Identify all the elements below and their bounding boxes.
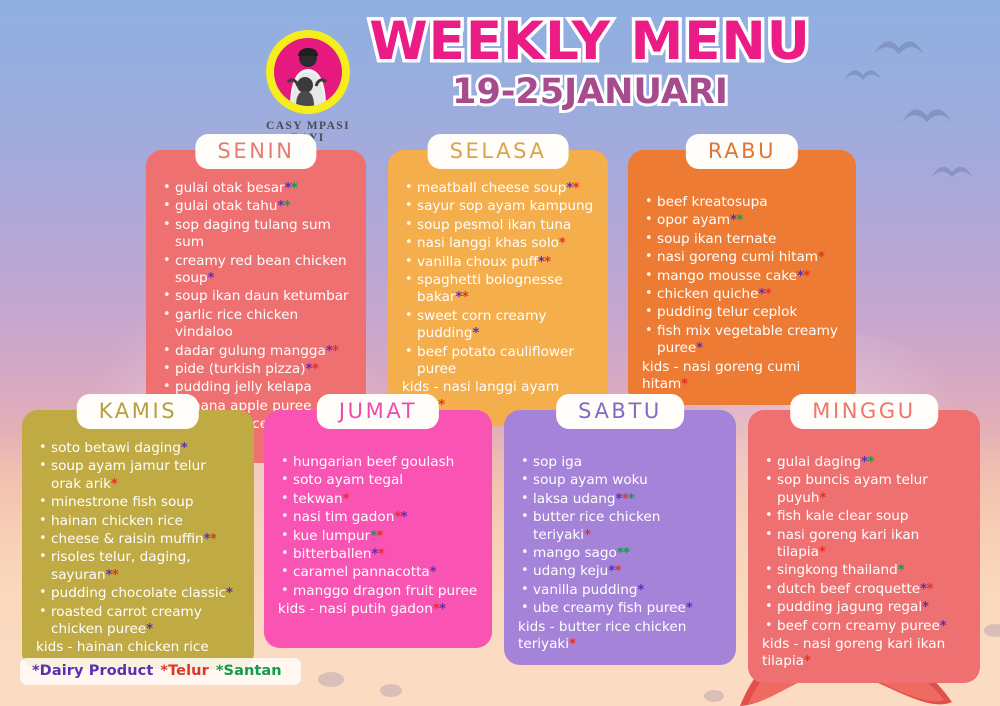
menu-item: minestrone fish soup (36, 494, 240, 511)
menu-item-label: fish kale clear soup (777, 508, 909, 524)
allergen-mark-dairy: * (473, 326, 479, 341)
allergen-mark-dairy: * (430, 565, 436, 580)
menu-item-label: nasi tim gadon (293, 509, 394, 525)
allergen-mark-telur: * (559, 236, 565, 251)
date-range: 19-25JANUARI (360, 72, 820, 112)
menu-item-label: gulai daging (777, 454, 861, 470)
menu-item: bitterballen** (278, 546, 478, 563)
allergen-mark-telur: * (377, 529, 383, 544)
day-label-jumat: JUMAT (317, 394, 439, 429)
day-card-selasa: SELASA meatball cheese soup**sayur sop a… (388, 150, 608, 426)
menu-item-label: singkong thailand (777, 562, 898, 578)
menu-item: laksa udang*** (518, 491, 722, 508)
allergen-mark-telur: * (332, 344, 338, 359)
legend-item-telur: *Telur (160, 663, 208, 679)
menu-item-label: hainan chicken rice (51, 513, 183, 529)
menu-item: vanilla pudding* (518, 582, 722, 599)
menu-item: ube creamy fish puree* (518, 600, 722, 617)
title-block: WEEKLY MENU 19-25JANUARI (360, 14, 820, 112)
menu-item-label: mango mousse cake (657, 268, 797, 284)
menu-item: kue lumpur** (278, 528, 478, 545)
menu-item-label: opor ayam (657, 212, 730, 228)
menu-item: singkong thailand* (762, 562, 966, 579)
menu-item-label: risoles telur, daging, sayuran (51, 549, 191, 582)
pebble-shape (984, 624, 1000, 637)
allergen-mark-telur: * (210, 532, 216, 547)
menu-item-label: ube creamy fish puree (533, 600, 686, 616)
menu-list: soto betawi daging*soup ayam jamur telur… (36, 440, 240, 638)
menu-list: sop igasoup ayam wokulaksa udang***butte… (518, 440, 722, 618)
allergen-mark-dairy: * (226, 586, 232, 601)
kids-menu: kids - nasi goreng kari ikan tilapia* (762, 636, 966, 671)
menu-item: creamy red bean chicken soup* (160, 253, 352, 288)
day-card-rabu: RABU beef kreatosupaopor ayam**soup ikan… (628, 150, 856, 405)
menu-item: sop daging tulang sum sum (160, 217, 352, 252)
menu-item-label: beef kreatosupa (657, 194, 768, 210)
menu-item: risoles telur, daging, sayuran** (36, 549, 240, 584)
allergen-mark-santan: * (623, 546, 629, 561)
menu-item-label: sweet corn creamy pudding (417, 308, 546, 341)
menu-item: fish kale clear soup (762, 508, 966, 525)
allergen-mark-santan: * (628, 492, 634, 507)
menu-item: beef kreatosupa (642, 194, 842, 211)
menu-item-label: tekwan (293, 491, 343, 507)
day-label-senin: SENIN (195, 134, 316, 169)
menu-item-label: cheese & raisin muffin (51, 531, 204, 547)
menu-item: cheese & raisin muffin** (36, 531, 240, 548)
allergen-mark-telur: * (818, 250, 824, 265)
kids-menu-label: kids - nasi goreng cumi hitam (642, 359, 800, 392)
menu-item-label: hungarian beef goulash (293, 454, 454, 470)
menu-item: soup ikan ternate (642, 231, 842, 248)
allergen-mark-dairy: * (638, 583, 644, 598)
allergen-mark-telur: * (804, 654, 810, 669)
menu-item: chicken quiche** (642, 286, 842, 303)
menu-item: butter rice chicken teriyaki* (518, 509, 722, 544)
menu-list: beef kreatosupaopor ayam**soup ikan tern… (642, 180, 842, 358)
logo-ring (266, 30, 350, 114)
allergen-mark-telur: * (544, 255, 550, 270)
menu-item: pudding jagung regal* (762, 599, 966, 616)
allergen-mark-dairy: * (401, 510, 407, 525)
allergen-mark-dairy: * (922, 600, 928, 615)
day-card-jumat: JUMAT hungarian beef goulashsoto ayam te… (264, 410, 492, 648)
day-label-sabtu: SABTU (556, 394, 684, 429)
menu-item: meatball cheese soup** (402, 180, 594, 197)
day-card-kamis: KAMIS soto betawi daging*soup ayam jamur… (22, 410, 254, 669)
allergen-mark-dairy: * (181, 441, 187, 456)
allergen-mark-dairy: * (940, 619, 946, 634)
menu-item-label: soto betawi daging (51, 440, 181, 456)
menu-item: gulai daging** (762, 454, 966, 471)
pebble-shape (380, 684, 402, 697)
menu-item-label: vanilla pudding (533, 582, 638, 598)
menu-item: soup pesmol ikan tuna (402, 217, 594, 234)
allergen-mark-telur: * (765, 287, 771, 302)
menu-item: soup ayam jamur telur orak arik* (36, 458, 240, 493)
menu-item-label: soup ayam woku (533, 472, 648, 488)
menu-item-label: pudding chocolate classic (51, 585, 226, 601)
menu-item: soup ayam woku (518, 472, 722, 489)
menu-item: garlic rice chicken vindaloo (160, 307, 352, 342)
allergen-mark-telur: * (343, 492, 349, 507)
allergen-mark-santan: * (291, 181, 297, 196)
allergen-mark-dairy: * (686, 601, 692, 616)
menu-item: fish mix vegetable creamy puree* (642, 323, 842, 358)
menu-item-label: minestrone fish soup (51, 494, 194, 510)
allergen-mark-telur: * (112, 568, 118, 583)
menu-item-label: gulai otak besar (175, 180, 285, 196)
allergen-mark-santan: * (736, 213, 742, 228)
allergen-mark-telur: * (573, 181, 579, 196)
menu-item-label: nasi langgi khas solo (417, 235, 559, 251)
menu-item-label: chicken quiche (657, 286, 759, 302)
menu-item: nasi goreng kari ikan tilapia* (762, 527, 966, 562)
menu-item-label: udang keju (533, 563, 608, 579)
menu-item: soto ayam tegal (278, 472, 478, 489)
menu-item-label: roasted carrot creamy chicken puree (51, 604, 202, 637)
allergen-mark-santan: * (867, 455, 873, 470)
menu-list: gulai otak besar**gulai otak tahu**sop d… (160, 180, 352, 415)
menu-item-label: gulai otak tahu (175, 198, 278, 214)
page-header: CASY MPASI BAYI WEEKLY MENU 19-25JANUARI (0, 14, 1000, 138)
menu-item: manggo dragon fruit puree (278, 583, 478, 600)
menu-item: nasi langgi khas solo* (402, 235, 594, 252)
menu-item: spaghetti bolognesse bakar** (402, 272, 594, 307)
menu-item-label: soup ikan daun ketumbar (175, 288, 349, 304)
pebble-shape (318, 672, 344, 687)
menu-item-label: nasi goreng kari ikan tilapia (777, 527, 919, 560)
menu-item-label: caramel pannacotta (293, 564, 430, 580)
allergen-mark-santan: * (898, 563, 904, 578)
kids-menu: kids - butter rice chicken teriyaki* (518, 619, 722, 654)
allergen-mark-telur: * (111, 477, 117, 492)
allergen-mark-dairy: * (439, 602, 445, 617)
menu-item-label: beef potato cauliflower puree (417, 344, 574, 377)
menu-item: vanilla choux puff** (402, 254, 594, 271)
menu-item: gulai otak besar** (160, 180, 352, 197)
kids-menu-label: kids - nasi putih gadon (278, 601, 433, 617)
menu-item-label: sop buncis ayam telur puyuh (777, 472, 928, 505)
menu-item: beef potato cauliflower puree (402, 344, 594, 379)
menu-item-label: pudding jelly kelapa (175, 379, 312, 395)
allergen-mark-dairy: * (146, 622, 152, 637)
day-card-minggu: MINGGU gulai daging**sop buncis ayam tel… (748, 410, 980, 683)
menu-item: pudding telur ceplok (642, 304, 842, 321)
allergen-legend: *Dairy Product*Telur*Santan (20, 658, 301, 685)
menu-item: nasi tim gadon** (278, 509, 478, 526)
bird-icon (930, 162, 974, 184)
menu-item-label: pudding telur ceplok (657, 304, 797, 320)
day-card-sabtu: SABTU sop igasoup ayam wokulaksa udang**… (504, 410, 736, 665)
mother-and-baby-icon (274, 38, 342, 106)
allergen-mark-telur: * (462, 290, 468, 305)
menu-item-label: bitterballen (293, 546, 372, 562)
menu-item-label: vanilla choux puff (417, 254, 538, 270)
menu-item-label: sop daging tulang sum sum (175, 217, 331, 250)
menu-item: gulai otak tahu** (160, 198, 352, 215)
menu-item: opor ayam** (642, 212, 842, 229)
menu-item: pudding chocolate classic* (36, 585, 240, 602)
menu-list: gulai daging**sop buncis ayam telur puyu… (762, 440, 966, 635)
allergen-mark-telur: * (615, 564, 621, 579)
menu-item: dadar gulung mangga** (160, 343, 352, 360)
menu-item: beef corn creamy puree* (762, 618, 966, 635)
menu-item-label: sayur sop ayam kampung (417, 198, 593, 214)
menu-item-label: dutch beef croquette (777, 581, 920, 597)
menu-item-label: spaghetti bolognesse bakar (417, 272, 563, 305)
day-label-kamis: KAMIS (77, 394, 199, 429)
allergen-mark-dairy: * (208, 271, 214, 286)
allergen-mark-telur: * (926, 582, 932, 597)
menu-item-label: soup ikan ternate (657, 231, 776, 247)
menu-item-label: creamy red bean chicken soup (175, 253, 347, 286)
menu-item: tekwan* (278, 491, 478, 508)
allergen-mark-telur: * (819, 545, 825, 560)
menu-item: hungarian beef goulash (278, 454, 478, 471)
pebble-shape (704, 690, 724, 702)
menu-item-label: meatball cheese soup (417, 180, 566, 196)
menu-item-label: pudding jagung regal (777, 599, 922, 615)
menu-item: roasted carrot creamy chicken puree* (36, 604, 240, 639)
menu-item: sop buncis ayam telur puyuh* (762, 472, 966, 507)
brand-logo: CASY MPASI BAYI (249, 30, 367, 144)
allergen-mark-telur: * (820, 491, 826, 506)
menu-item-label: soto ayam tegal (293, 472, 403, 488)
menu-item: pide (turkish pizza)** (160, 361, 352, 378)
allergen-mark-telur: * (584, 528, 590, 543)
menu-item: soup ikan daun ketumbar (160, 288, 352, 305)
menu-item: sayur sop ayam kampung (402, 198, 594, 215)
allergen-mark-telur: * (681, 377, 687, 392)
menu-item-label: dadar gulung mangga (175, 343, 326, 359)
menu-item-label: soup ayam jamur telur orak arik (51, 458, 206, 491)
kids-menu-label: kids - nasi goreng kari ikan tilapia (762, 636, 945, 669)
menu-list: hungarian beef goulashsoto ayam tegaltek… (278, 440, 478, 600)
menu-item: hainan chicken rice (36, 513, 240, 530)
day-label-minggu: MINGGU (790, 394, 938, 429)
menu-item: dutch beef croquette** (762, 581, 966, 598)
allergen-mark-santan: * (284, 199, 290, 214)
kids-menu-label: kids - butter rice chicken teriyaki (518, 619, 686, 652)
legend-item-dairy: *Dairy Product (32, 663, 153, 679)
menu-item-label: laksa udang (533, 491, 616, 507)
allergen-mark-telur: * (312, 362, 318, 377)
menu-item: sweet corn creamy pudding* (402, 308, 594, 343)
menu-item-label: nasi goreng cumi hitam (657, 249, 818, 265)
allergen-mark-telur: * (569, 637, 575, 652)
allergen-mark-telur: * (803, 269, 809, 284)
kids-menu: kids - hainan chicken rice (36, 639, 240, 656)
menu-item-label: fish mix vegetable creamy puree (657, 323, 838, 356)
page-title: WEEKLY MENU (360, 14, 820, 70)
kids-menu: kids - nasi putih gadon** (278, 601, 478, 618)
day-label-rabu: RABU (686, 134, 798, 169)
menu-item: sop iga (518, 454, 722, 471)
menu-item-label: kue lumpur (293, 528, 370, 544)
menu-item-label: butter rice chicken teriyaki (533, 509, 660, 542)
menu-item-label: manggo dragon fruit puree (293, 583, 477, 599)
kids-menu-label: kids - hainan chicken rice (36, 639, 209, 655)
menu-item: soto betawi daging* (36, 440, 240, 457)
menu-item-label: sop iga (533, 454, 582, 470)
menu-item: udang keju** (518, 563, 722, 580)
menu-item-label: mango sago (533, 545, 617, 561)
menu-item: mango sago** (518, 545, 722, 562)
allergen-mark-telur: * (378, 547, 384, 562)
menu-item-label: garlic rice chicken vindaloo (175, 307, 298, 340)
kids-menu: kids - nasi goreng cumi hitam* (642, 359, 842, 394)
day-label-selasa: SELASA (428, 134, 569, 169)
menu-item: mango mousse cake** (642, 268, 842, 285)
menu-item-label: pide (turkish pizza) (175, 361, 306, 377)
menu-item-label: soup pesmol ikan tuna (417, 217, 571, 233)
allergen-mark-dairy: * (696, 341, 702, 356)
menu-item-label: beef corn creamy puree (777, 618, 940, 634)
menu-item: caramel pannacotta* (278, 564, 478, 581)
menu-list: meatball cheese soup**sayur sop ayam kam… (402, 180, 594, 378)
menu-item: nasi goreng cumi hitam* (642, 249, 842, 266)
legend-item-santan: *Santan (216, 663, 282, 679)
